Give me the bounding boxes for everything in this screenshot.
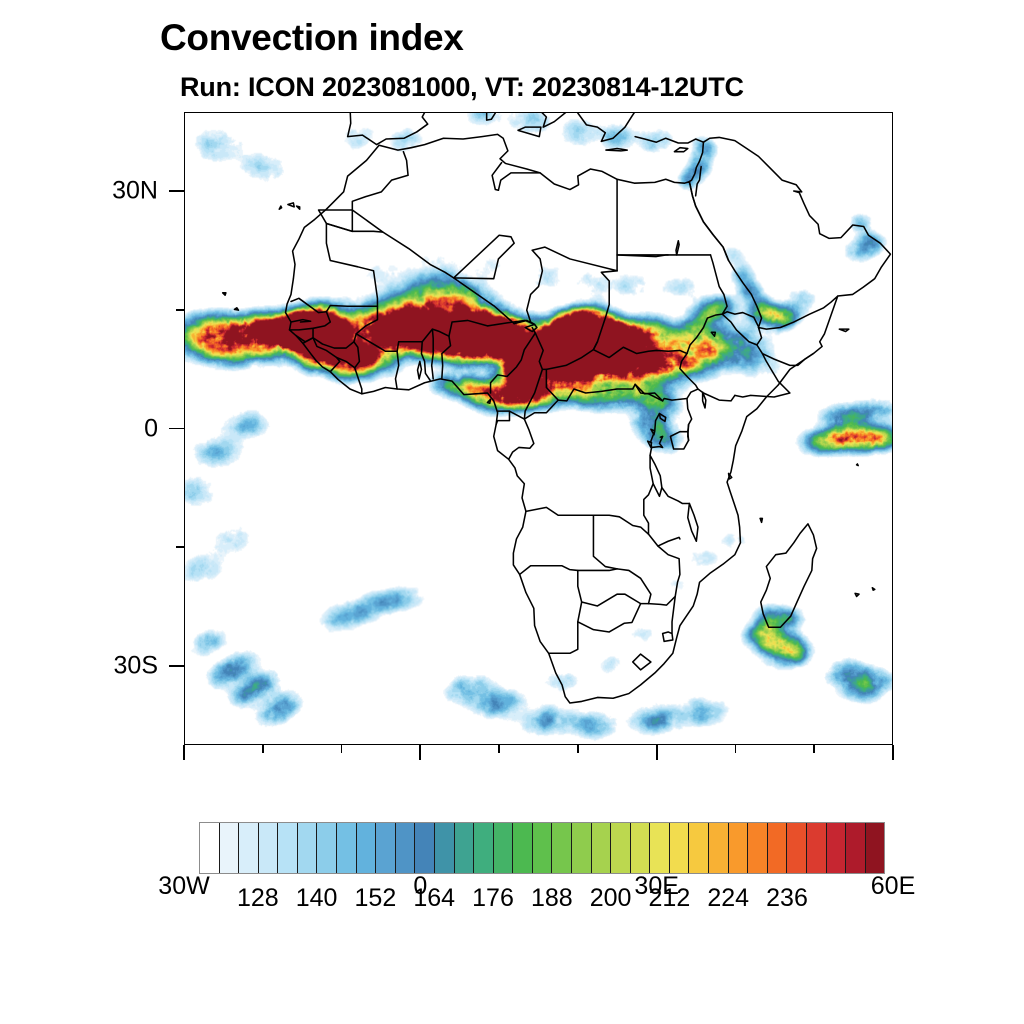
colorbar-tick-label: 236 — [766, 884, 808, 913]
colorbar-cell-27 — [729, 823, 749, 873]
x-minor-tick — [813, 745, 815, 753]
colorbar-tick-label: 152 — [355, 884, 397, 913]
colorbar-cell-18 — [552, 823, 572, 873]
y-axis-label: 30S — [114, 651, 158, 680]
colorbar-cell-9 — [376, 823, 396, 873]
colorbar-cell-11 — [415, 823, 435, 873]
map-frame — [184, 112, 893, 745]
y-minor-tick — [176, 309, 184, 311]
colorbar-cell-14 — [474, 823, 494, 873]
y-major-tick — [169, 190, 184, 192]
x-minor-tick — [577, 745, 579, 753]
x-minor-tick — [735, 745, 737, 753]
colorbar-tick-label: 224 — [707, 884, 749, 913]
y-axis-label: 30N — [112, 177, 158, 206]
colorbar-cell-10 — [396, 823, 416, 873]
x-axis-label: 30W — [158, 872, 209, 901]
colorbar-cell-22 — [631, 823, 651, 873]
y-major-tick — [169, 428, 184, 430]
colorbar-tick-label: 212 — [649, 884, 691, 913]
colorbar-tick-label: 188 — [531, 884, 573, 913]
colorbar-cell-3 — [259, 823, 279, 873]
x-major-tick — [183, 745, 185, 760]
x-minor-tick — [262, 745, 264, 753]
colorbar-tick-label: 128 — [237, 884, 279, 913]
colorbar-cell-23 — [650, 823, 670, 873]
colorbar-cell-28 — [748, 823, 768, 873]
colorbar — [199, 822, 885, 874]
colorbar-tick-label: 164 — [413, 884, 455, 913]
colorbar-container — [199, 822, 885, 874]
colorbar-cell-12 — [435, 823, 455, 873]
y-axis-label: 0 — [144, 414, 158, 443]
colorbar-tick-label: 176 — [472, 884, 514, 913]
colorbar-cell-29 — [768, 823, 788, 873]
y-major-tick — [169, 665, 184, 667]
colorbar-cell-20 — [592, 823, 612, 873]
colorbar-cell-7 — [337, 823, 357, 873]
colorbar-cell-19 — [572, 823, 592, 873]
page-title: Convection index — [160, 17, 464, 59]
colorbar-cell-30 — [787, 823, 807, 873]
colorbar-cell-17 — [533, 823, 553, 873]
x-major-tick — [419, 745, 421, 760]
country-borders-overlay — [185, 113, 892, 744]
colorbar-cell-13 — [455, 823, 475, 873]
colorbar-tick-label: 140 — [296, 884, 338, 913]
colorbar-cell-21 — [611, 823, 631, 873]
map-plot-area: 30W030E60E 30N030S — [184, 112, 893, 745]
colorbar-cell-0 — [200, 823, 220, 873]
colorbar-cell-8 — [357, 823, 377, 873]
x-axis-label: 60E — [871, 872, 915, 901]
colorbar-cell-16 — [513, 823, 533, 873]
colorbar-cell-6 — [317, 823, 337, 873]
colorbar-cell-33 — [846, 823, 866, 873]
colorbar-cell-31 — [807, 823, 827, 873]
x-major-tick — [656, 745, 658, 760]
colorbar-cell-26 — [709, 823, 729, 873]
colorbar-cell-15 — [494, 823, 514, 873]
colorbar-cell-2 — [239, 823, 259, 873]
colorbar-cell-34 — [866, 823, 885, 873]
run-valid-time-subtitle: Run: ICON 2023081000, VT: 20230814-12UTC — [180, 72, 744, 103]
x-minor-tick — [498, 745, 500, 753]
colorbar-cell-25 — [689, 823, 709, 873]
colorbar-cell-1 — [220, 823, 240, 873]
x-minor-tick — [341, 745, 343, 753]
colorbar-tick-label: 200 — [590, 884, 632, 913]
colorbar-cell-4 — [278, 823, 298, 873]
colorbar-cell-32 — [827, 823, 847, 873]
x-major-tick — [892, 745, 894, 760]
y-minor-tick — [176, 546, 184, 548]
colorbar-cell-5 — [298, 823, 318, 873]
colorbar-cell-24 — [670, 823, 690, 873]
